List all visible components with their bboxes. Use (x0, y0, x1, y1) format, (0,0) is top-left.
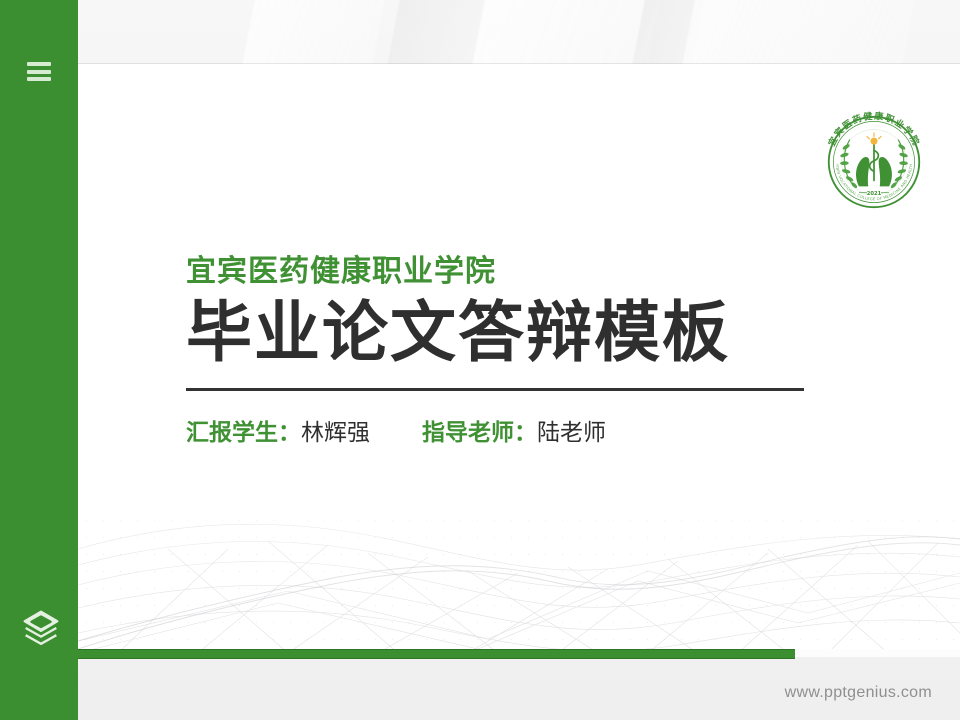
school-name: 宜宾医药健康职业学院 (186, 254, 886, 290)
layers-stack-svg (18, 605, 64, 651)
menu-bar-1 (27, 62, 51, 66)
menu-bar-3 (27, 77, 51, 81)
menu-bar-2 (27, 70, 51, 74)
layers-stack-icon[interactable] (18, 605, 64, 651)
advisor-name: 陆老师 (537, 413, 606, 447)
bottom-accent-bar (78, 649, 795, 659)
page-title: 毕业论文答辩模板 (186, 296, 886, 370)
mesh-dot-layer (78, 478, 960, 653)
mesh-wave-svg (78, 453, 960, 653)
presentation-slide: 宜宾医药健康职业学院 YIBIN VOCATIONAL COLLEGE OF M… (0, 0, 960, 720)
emblem-year: 2021 (867, 191, 882, 197)
title-divider (186, 388, 804, 391)
wireframe-mesh-decoration (78, 453, 960, 653)
footer-url: www.pptgenius.com (785, 684, 932, 702)
hamburger-menu-icon[interactable] (27, 62, 51, 81)
card-bottom-edge (795, 649, 960, 657)
slide-content-card: 宜宾医药健康职业学院 YIBIN VOCATIONAL COLLEGE OF M… (78, 64, 960, 653)
title-text-block: 宜宾医药健康职业学院 毕业论文答辩模板 汇报学生： 林辉强 指导老师： 陆老师 (186, 254, 886, 447)
advisor-label: 指导老师： (422, 413, 537, 447)
college-emblem-logo: 宜宾医药健康职业学院 YIBIN VOCATIONAL COLLEGE OF M… (816, 104, 932, 220)
presenter-label: 汇报学生： (186, 413, 301, 447)
presenter-meta-row: 汇报学生： 林辉强 指导老师： 陆老师 (186, 413, 886, 447)
presenter-name: 林辉强 (301, 413, 370, 447)
college-emblem-svg: 宜宾医药健康职业学院 YIBIN VOCATIONAL COLLEGE OF M… (816, 104, 932, 220)
